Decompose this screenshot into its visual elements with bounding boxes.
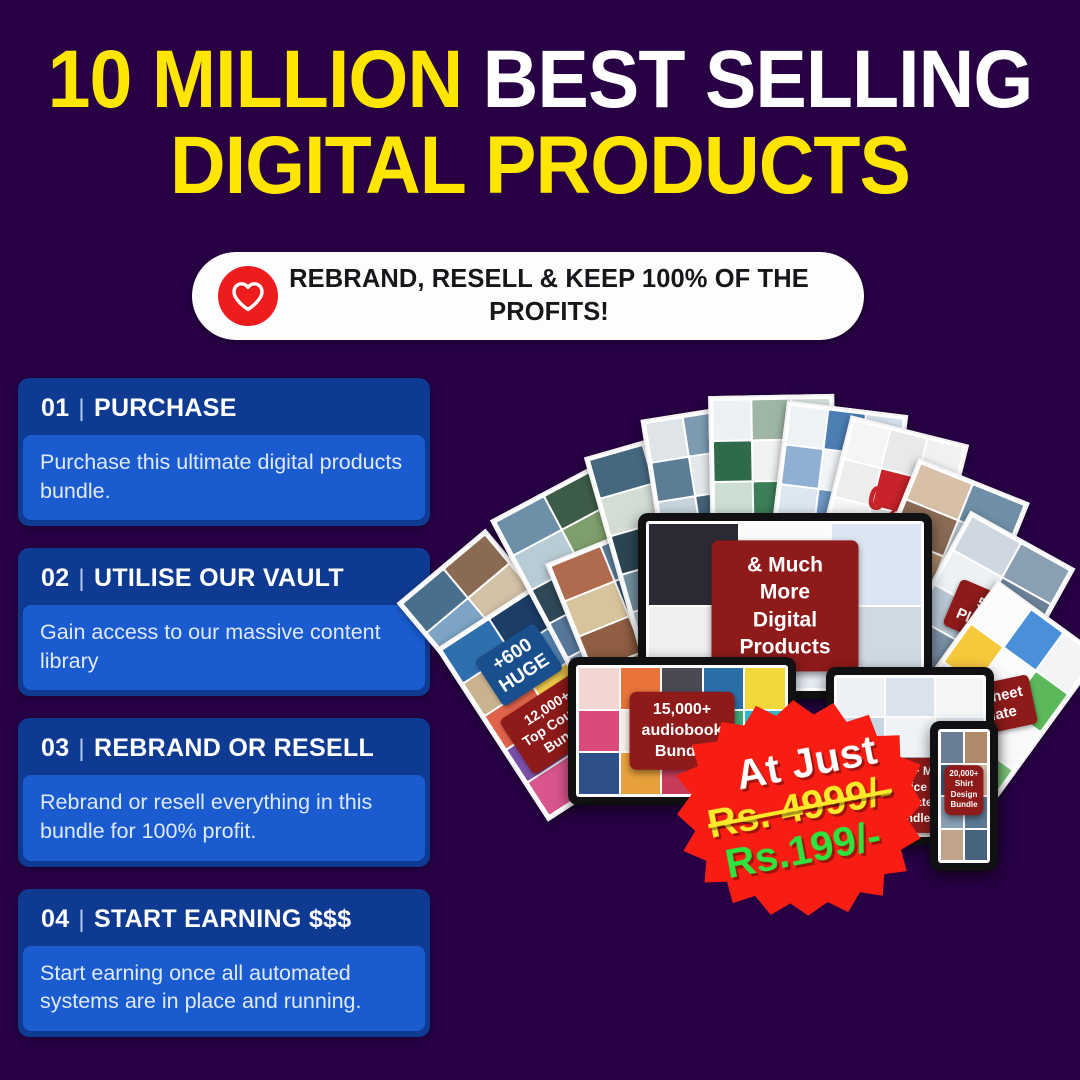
step-header: 02 | UTILISE OUR VAULT xyxy=(23,553,425,605)
step-card-03: 03 | REBRAND OR RESELL Rebrand or resell… xyxy=(18,718,430,866)
step-number: 02 xyxy=(41,564,69,593)
sub-banner: REBRAND, RESELL & KEEP 100% OF THE PROFI… xyxy=(192,252,864,340)
step-title: PURCHASE xyxy=(94,394,237,423)
step-divider: | xyxy=(78,565,85,593)
step-body: Rebrand or resell everything in this bun… xyxy=(23,775,425,860)
headline-highlight: 10 MILLION xyxy=(48,34,463,125)
step-body: Purchase this ultimate digital products … xyxy=(23,435,425,520)
step-divider: | xyxy=(78,906,85,934)
step-body: Gain access to our massive content libra… xyxy=(23,605,425,690)
collage-center-label: & Much More Digital Products xyxy=(712,540,859,671)
page-headline: 10 MILLION BEST SELLING DIGITAL PRODUCTS xyxy=(0,40,1080,207)
device-label: 20,000+ Shirt Design Bundle xyxy=(944,765,983,815)
step-header: 04 | START EARNING $$$ xyxy=(23,894,425,946)
step-title: START EARNING $$$ xyxy=(94,905,351,934)
step-body: Start earning once all automated systems… xyxy=(23,946,425,1031)
steps-list: 01 | PURCHASE Purchase this ultimate dig… xyxy=(18,378,430,1059)
phone-device-shirt: 20,000+ Shirt Design Bundle xyxy=(930,721,998,871)
step-header: 03 | REBRAND OR RESELL xyxy=(23,723,425,775)
step-divider: | xyxy=(78,395,85,423)
step-card-01: 01 | PURCHASE Purchase this ultimate dig… xyxy=(18,378,430,526)
step-card-02: 02 | UTILISE OUR VAULT Gain access to ou… xyxy=(18,548,430,696)
headline-line1-white: BEST SELLING xyxy=(483,34,1033,125)
step-header: 01 | PURCHASE xyxy=(23,383,425,435)
step-number: 04 xyxy=(41,905,69,934)
heart-icon xyxy=(218,266,278,326)
step-title: UTILISE OUR VAULT xyxy=(94,564,344,593)
sub-banner-text: REBRAND, RESELL & KEEP 100% OF THE PROFI… xyxy=(278,263,838,328)
step-title: REBRAND OR RESELL xyxy=(94,734,374,763)
step-number: 03 xyxy=(41,734,69,763)
step-divider: | xyxy=(78,735,85,763)
step-number: 01 xyxy=(41,394,69,423)
headline-line2: DIGITAL PRODUCTS xyxy=(32,126,1047,206)
step-card-04: 04 | START EARNING $$$ Start earning onc… xyxy=(18,889,430,1037)
